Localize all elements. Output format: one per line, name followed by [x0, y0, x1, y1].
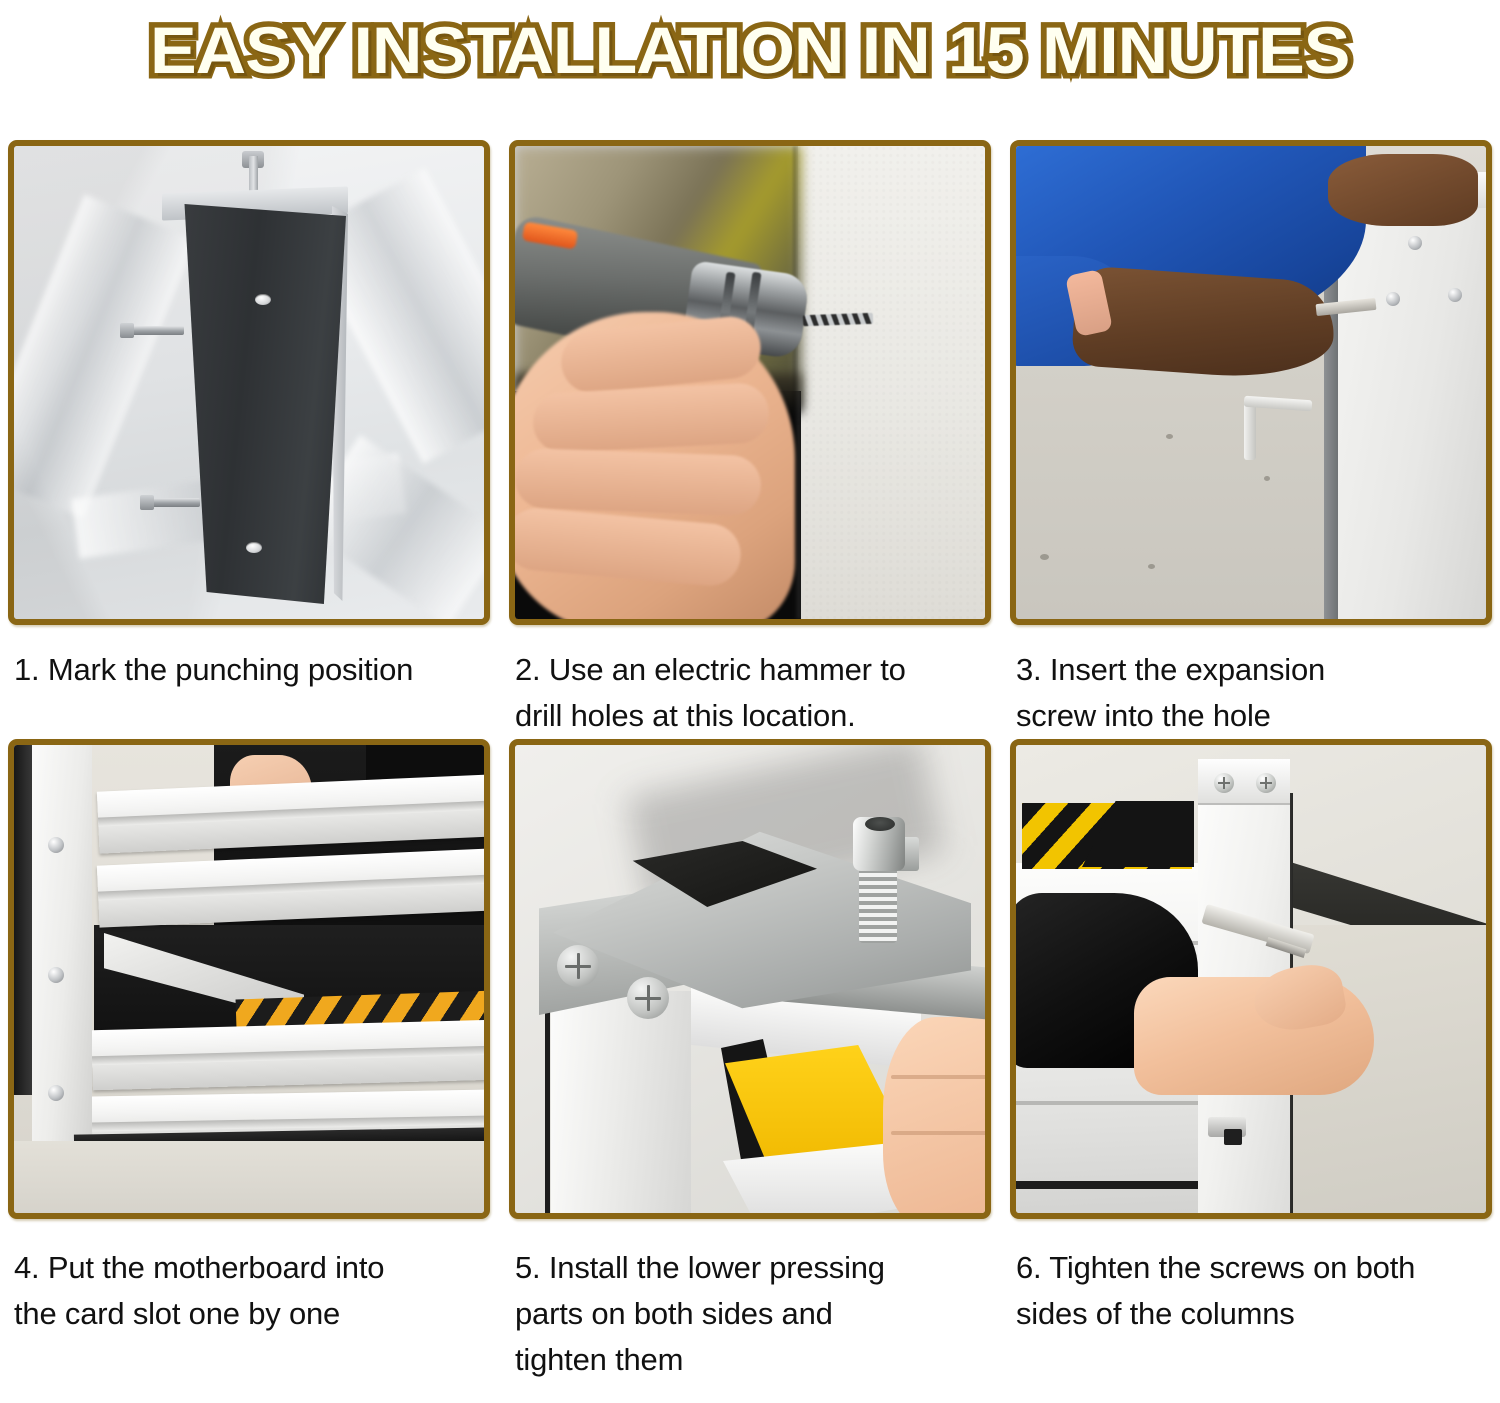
- step-card-6: 6. Tighten the screws on both sides of t…: [1010, 739, 1492, 1383]
- finger-crease: [891, 1131, 985, 1135]
- column-top-cap: [1198, 759, 1290, 805]
- column-screw: [1214, 773, 1234, 793]
- board-lip: [98, 800, 484, 826]
- step-5-photo-frame: [509, 739, 991, 1219]
- step-card-4: 4. Put the motherboard into the card slo…: [8, 739, 490, 1383]
- step-3-photo-frame: [1010, 140, 1492, 625]
- panel-seam: [1016, 1181, 1206, 1189]
- panel-seam: [1016, 1101, 1206, 1105]
- board-lip: [92, 1046, 484, 1066]
- hand: [883, 1017, 985, 1213]
- step-4-caption: 4. Put the motherboard into the card slo…: [8, 1219, 490, 1337]
- steps-grid: 1. Mark the punching position: [8, 140, 1492, 1383]
- page-title: EASY INSTALLATION IN 15 MINUTES: [150, 15, 1349, 85]
- step-3-caption: 3. Insert the expansion screw into the h…: [1010, 625, 1492, 739]
- board-lip: [98, 874, 484, 900]
- column-screw: [1448, 288, 1462, 302]
- step-1-caption: 1. Mark the punching position: [8, 625, 490, 693]
- finger-crease: [891, 1075, 985, 1079]
- thumb-bolt-shaft: [859, 865, 897, 943]
- step-2-drill-holes-image: [515, 146, 985, 619]
- step-4-photo-frame: [8, 739, 490, 1219]
- phillips-screw: [627, 977, 669, 1019]
- column-screw: [1386, 292, 1400, 306]
- step-1-photo-frame: [8, 140, 490, 625]
- floor-speck: [1040, 554, 1049, 560]
- step-card-1: 1. Mark the punching position: [8, 140, 490, 739]
- finger: [515, 448, 762, 517]
- step-5-caption: 5. Install the lower pressing parts on b…: [509, 1219, 991, 1383]
- step-card-3: 3. Insert the expansion screw into the h…: [1010, 140, 1492, 739]
- step-2-caption: 2. Use an electric hammer to drill holes…: [509, 625, 991, 739]
- drill-hole-marker: [255, 294, 271, 305]
- installation-guide-page: EASY INSTALLATION IN 15 MINUTES: [0, 0, 1500, 1403]
- worker-upper-hand: [1328, 154, 1478, 226]
- floor-speck: [1264, 476, 1270, 481]
- post-dark-edge: [14, 745, 34, 1095]
- step-5-install-lower-pressing-parts-image: [515, 745, 985, 1213]
- column-edge-line: [545, 997, 550, 1213]
- step-6-photo-frame: [1010, 739, 1492, 1219]
- thumb-bolt-socket: [865, 817, 895, 831]
- step-2-photo-frame: [509, 140, 991, 625]
- floor-speck: [1148, 564, 1155, 569]
- step-6-caption: 6. Tighten the screws on both sides of t…: [1010, 1219, 1492, 1337]
- bolt-head: [140, 495, 154, 510]
- drill-hole-marker: [246, 542, 262, 553]
- column-screw: [1408, 236, 1422, 250]
- lower-latch-socket: [1224, 1129, 1242, 1145]
- floor-speck: [1166, 434, 1173, 439]
- wall-surface: [798, 146, 985, 619]
- post-screw: [48, 967, 64, 983]
- floor: [14, 1141, 484, 1213]
- step-6-tighten-column-screws-image: [1016, 745, 1486, 1213]
- finger: [532, 382, 771, 454]
- column-screw: [1256, 773, 1276, 793]
- barrier-board: [91, 1020, 484, 1091]
- step-4-put-motherboard-in-slot-image: [14, 745, 484, 1213]
- phillips-screw: [557, 945, 599, 987]
- step-3-insert-expansion-screw-image: [1016, 146, 1486, 619]
- page-title-banner: EASY INSTALLATION IN 15 MINUTES: [0, 0, 1500, 100]
- step-card-5: 5. Install the lower pressing parts on b…: [509, 739, 991, 1383]
- post-screw: [48, 1085, 64, 1101]
- white-column: [551, 991, 691, 1213]
- step-1-mark-punching-position-image: [14, 146, 484, 619]
- bolt-head: [120, 323, 134, 338]
- post-screw: [48, 837, 64, 853]
- step-card-2: 2. Use an electric hammer to drill holes…: [509, 140, 991, 739]
